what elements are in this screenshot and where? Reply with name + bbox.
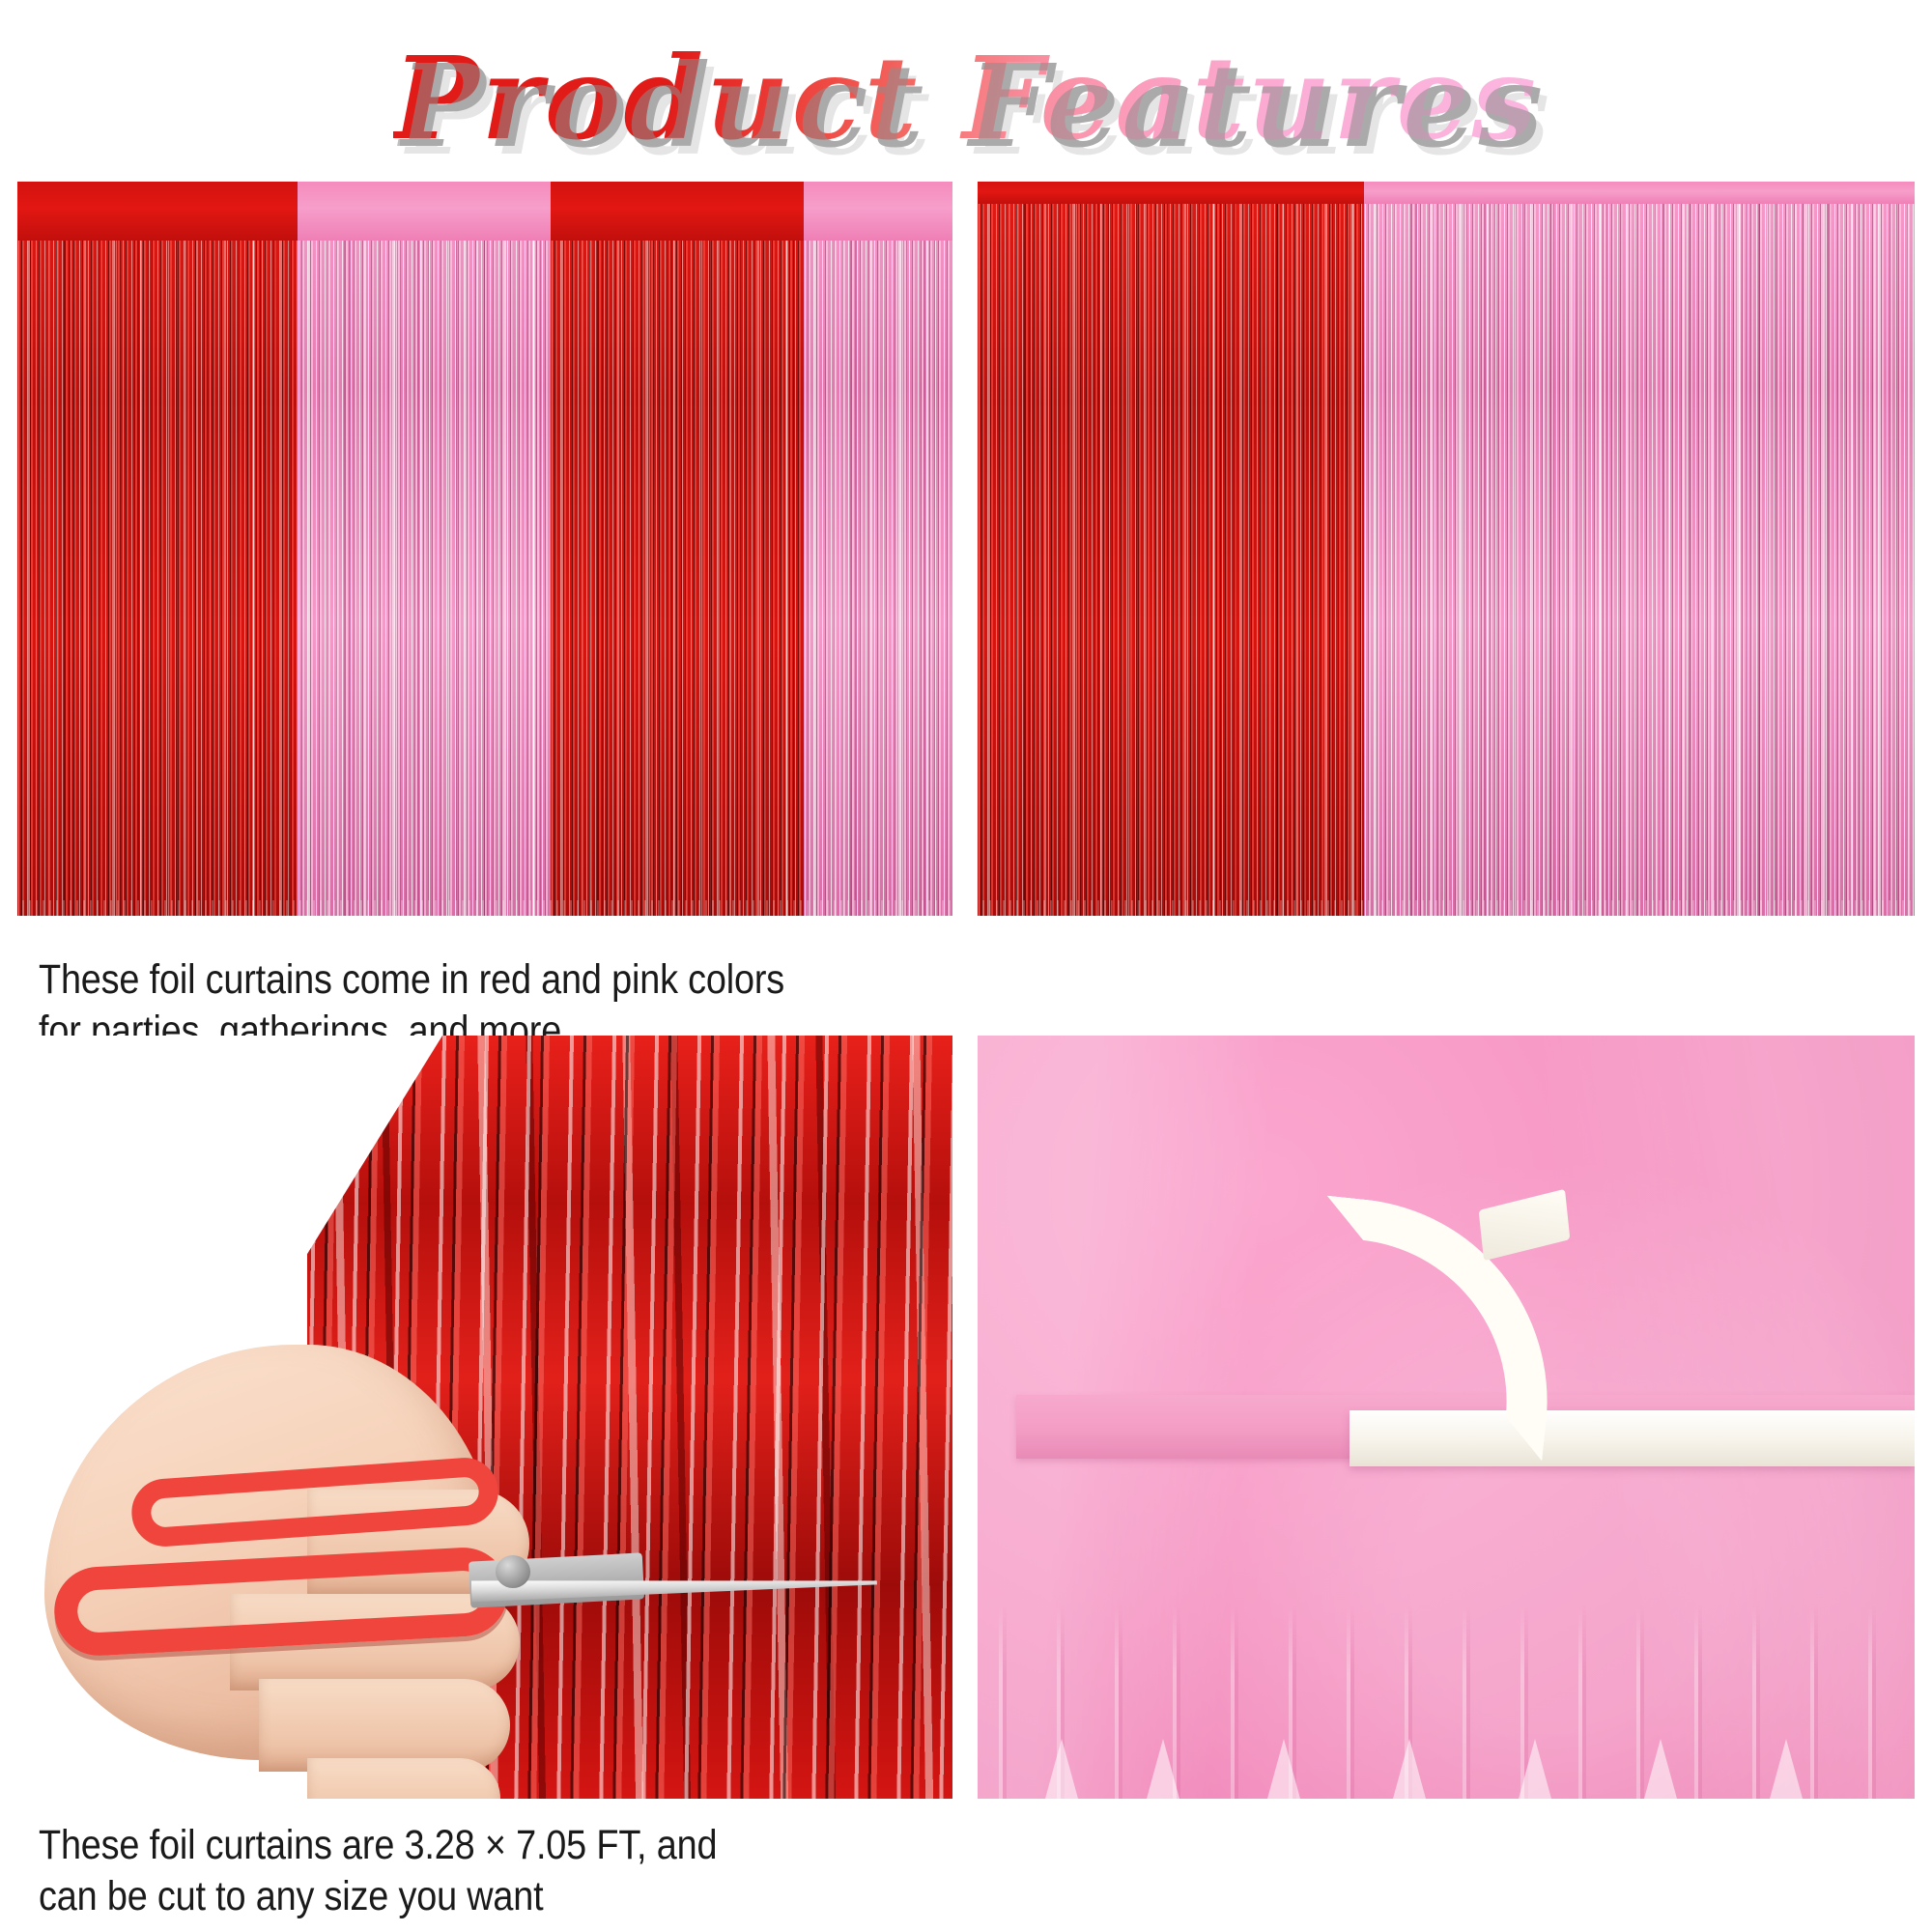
curtain-photo-closeup bbox=[978, 182, 1915, 916]
fringe-texture bbox=[804, 182, 952, 916]
feature-card-tape: Easy installation with double-sided tape… bbox=[978, 1036, 1915, 1905]
fringe-texture bbox=[1364, 182, 1915, 916]
fringe-bottom-edge bbox=[978, 900, 1915, 916]
product-features-infographic: Product Features bbox=[0, 0, 1932, 1932]
page-title: Product Features bbox=[393, 33, 1539, 163]
panel-top-band bbox=[17, 182, 298, 241]
panel-top-band bbox=[804, 182, 952, 241]
feature-grid: These foil curtains come in red and pink… bbox=[0, 182, 1932, 1920]
fringe-texture bbox=[978, 182, 1364, 916]
fringe-texture bbox=[298, 182, 551, 916]
scissors-pivot-screw bbox=[496, 1555, 530, 1588]
scissors-cutting-photo bbox=[17, 1036, 952, 1799]
panel-top-band bbox=[298, 182, 551, 241]
fringe-texture bbox=[551, 182, 804, 916]
feature-card-colors: These foil curtains come in red and pink… bbox=[17, 182, 952, 1022]
fringe-texture bbox=[17, 182, 298, 916]
curtain-panel-red-1 bbox=[17, 182, 298, 916]
curtain-panel-pink-1 bbox=[298, 182, 551, 916]
curtain-panel-pink-2 bbox=[804, 182, 952, 916]
panel-top-band bbox=[978, 182, 1364, 204]
curtain-panel-pink-closeup bbox=[1364, 182, 1915, 916]
caption-cuttable: These foil curtains are 3.28 × 7.05 FT, … bbox=[39, 1820, 965, 1922]
page-title-container: Product Features bbox=[0, 33, 1932, 163]
feature-card-cuttable: These foil curtains are 3.28 × 7.05 FT, … bbox=[17, 1036, 952, 1905]
little-finger bbox=[307, 1758, 500, 1799]
curtain-panel-red-closeup bbox=[978, 182, 1364, 916]
curtain-panel-red-2 bbox=[551, 182, 804, 916]
panel-top-band bbox=[1364, 182, 1915, 204]
curtain-photo-four-panels bbox=[17, 182, 952, 916]
pink-fringe-bottom bbox=[978, 1605, 1915, 1799]
tape-photo bbox=[978, 1036, 1915, 1799]
panel-top-band bbox=[551, 182, 804, 241]
fringe-bottom-edge bbox=[17, 900, 952, 916]
feature-card-metallic-finish: Metallic color finish, suitable for part… bbox=[978, 182, 1915, 1022]
